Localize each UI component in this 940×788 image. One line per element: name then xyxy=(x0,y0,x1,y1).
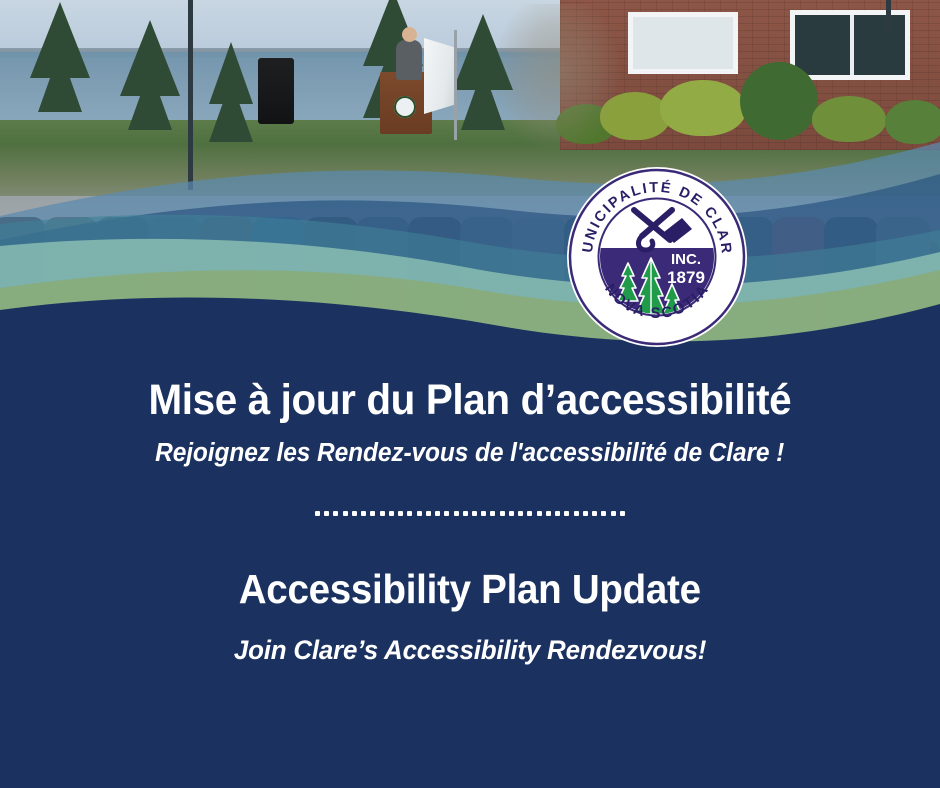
divider-dot xyxy=(407,511,412,516)
divider-dot xyxy=(537,511,542,516)
divider-dot xyxy=(472,511,477,516)
divider-dot xyxy=(611,511,616,516)
divider-dot xyxy=(564,511,569,516)
divider-dot xyxy=(389,511,394,516)
divider-dot xyxy=(555,511,560,516)
building-window xyxy=(628,12,738,74)
divider-dot xyxy=(509,511,514,516)
divider-dot xyxy=(324,511,329,516)
divider-dot xyxy=(574,511,579,516)
divider-dot xyxy=(361,511,366,516)
wave-graphic xyxy=(0,120,940,360)
loudspeaker xyxy=(258,58,294,124)
divider-dot xyxy=(583,511,588,516)
divider-dot xyxy=(481,511,486,516)
divider-dot xyxy=(527,511,532,516)
subtitle-fr: Rejoignez les Rendez-vous de l'accessibi… xyxy=(155,439,784,468)
page-title-en: Accessibility Plan Update xyxy=(239,566,701,613)
divider-dot xyxy=(343,511,348,516)
divider-dot xyxy=(518,511,523,516)
divider-dot xyxy=(601,511,606,516)
divider-dot xyxy=(352,511,357,516)
divider-dot xyxy=(592,511,597,516)
speaker-at-podium xyxy=(396,40,422,80)
divider-dot xyxy=(444,511,449,516)
divider-dot xyxy=(620,511,625,516)
divider-dot xyxy=(380,511,385,516)
poster-canvas: INC. 1879 MUNICIPALITÉ DE CLARE NOVA SCO… xyxy=(0,0,940,788)
dotted-divider xyxy=(315,510,625,516)
divider-dot xyxy=(454,511,459,516)
divider-dot xyxy=(435,511,440,516)
divider-dot xyxy=(500,511,505,516)
divider-dot xyxy=(333,511,338,516)
divider-dot xyxy=(315,511,320,516)
divider-dot xyxy=(417,511,422,516)
light-pole xyxy=(886,0,891,34)
divider-dot xyxy=(370,511,375,516)
divider-dot xyxy=(398,511,403,516)
divider-dot xyxy=(490,511,495,516)
poster-content: Mise à jour du Plan d’accessibilité Rejo… xyxy=(0,352,940,788)
divider-dot xyxy=(546,511,551,516)
page-title-fr: Mise à jour du Plan d’accessibilité xyxy=(149,378,792,423)
logo-inc-label: INC. xyxy=(671,251,701,268)
subtitle-en: Join Clare’s Accessibility Rendezvous! xyxy=(234,635,706,666)
divider-dot xyxy=(426,511,431,516)
flag xyxy=(424,38,454,114)
municipality-logo: INC. 1879 MUNICIPALITÉ DE CLARE NOVA SCO… xyxy=(566,166,748,348)
divider-dot xyxy=(463,511,468,516)
building-door xyxy=(790,10,910,80)
